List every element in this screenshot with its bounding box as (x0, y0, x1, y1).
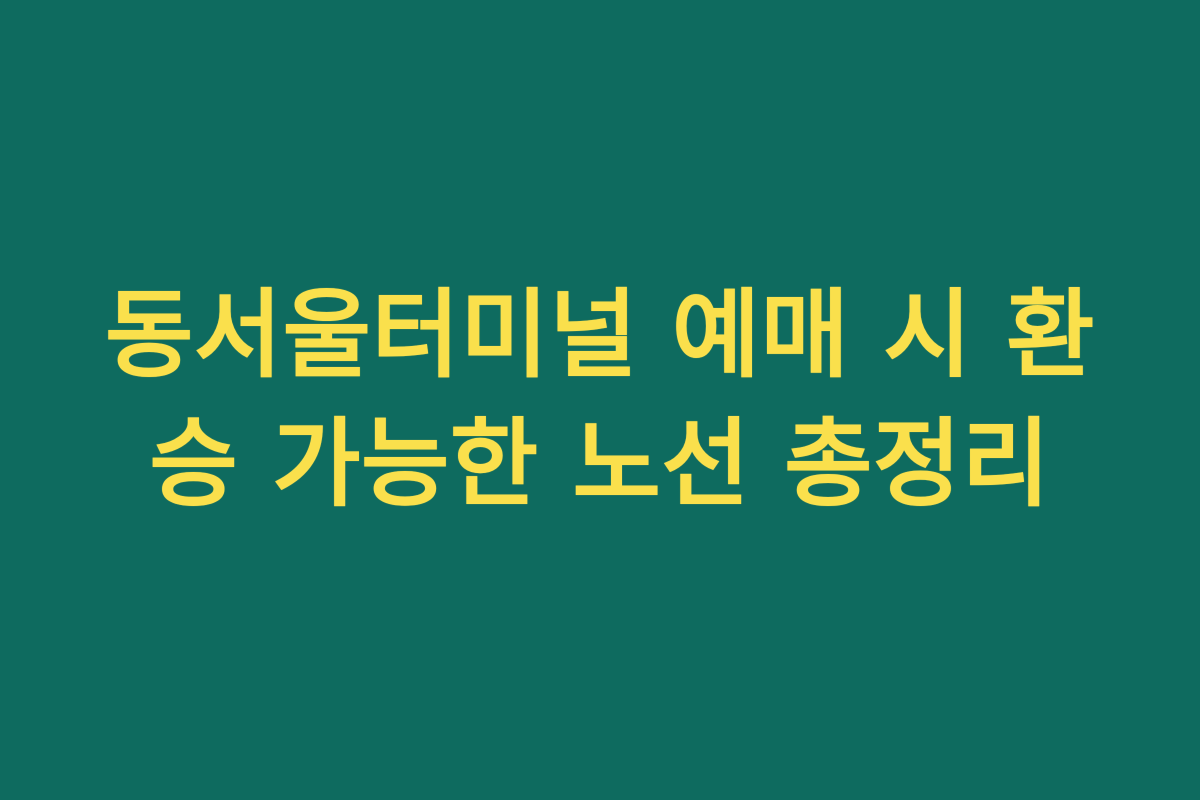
headline-line-1: 동서울터미널 예매 시 환 (70, 272, 1130, 399)
headline-text-block: 동서울터미널 예매 시 환 승 가능한 노선 총정리 (70, 272, 1130, 527)
title-card-banner: 동서울터미널 예매 시 환 승 가능한 노선 총정리 (0, 0, 1200, 800)
headline-line-2: 승 가능한 노선 총정리 (70, 401, 1130, 528)
